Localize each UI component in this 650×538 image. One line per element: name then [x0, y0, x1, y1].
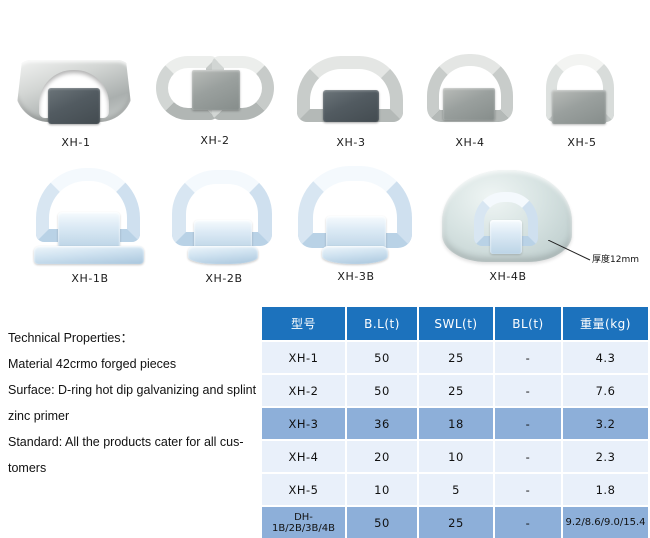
centre-plate-shape: [192, 70, 240, 110]
product-label-xh-5: XH-5: [530, 136, 634, 149]
product-label-xh-3: XH-3: [292, 136, 410, 149]
bolster-sleeve-shape: [326, 216, 386, 250]
cell-swl: 10: [418, 440, 494, 473]
table-row: XH-3 36 18 - 3.2: [262, 407, 648, 440]
product-label-xh-3b: XH-3B: [292, 270, 420, 283]
spec-line-3: zinc primer: [8, 408, 258, 424]
forged-base-shape: [322, 246, 388, 264]
product-card-xh-4b: XH-4B: [438, 170, 578, 283]
cell-model: XH-5: [262, 473, 346, 506]
table-row: XH-1 50 25 - 4.3: [262, 341, 648, 374]
product-card-xh-2b: XH-2B: [162, 168, 286, 285]
product-catalog-page: XH-1 XH-2 XH-3 XH-4 XH-5: [0, 0, 650, 523]
spec-line-0: Technical Properties：: [8, 330, 258, 346]
thickness-annotation: 厚度12mm: [592, 252, 639, 265]
product-image-xh-5: [536, 50, 628, 130]
cell-weight: 1.8: [562, 473, 648, 506]
spec-line-1: Material 42crmo forged pieces: [8, 356, 258, 372]
bolster-sleeve-shape: [490, 220, 522, 254]
spec-line-5: tomers: [8, 460, 258, 476]
grey-clamp-shape: [443, 88, 495, 120]
table-row: XH-4 20 10 - 2.3: [262, 440, 648, 473]
cell-bl: 50: [346, 506, 418, 538]
base-plate-shape: [34, 246, 144, 264]
product-label-xh-2b: XH-2B: [162, 272, 286, 285]
dark-clamp-shape: [48, 88, 100, 124]
cell-bl: 10: [346, 473, 418, 506]
product-label-xh-2: XH-2: [152, 134, 278, 147]
column-header-swl: SWL(t): [418, 307, 494, 341]
cell-bl2: -: [494, 440, 562, 473]
product-image-xh-2: [154, 44, 276, 130]
product-card-xh-1: XH-1: [12, 52, 140, 149]
cell-model: XH-3: [262, 407, 346, 440]
cell-bl: 20: [346, 440, 418, 473]
spec-line-4: Standard: All the products cater for all…: [8, 434, 258, 450]
product-image-xh-3: [295, 50, 407, 130]
grey-clamp-shape: [552, 90, 606, 124]
thickness-leader-line-icon: [548, 240, 592, 262]
column-header-weight: 重量(kg): [562, 307, 648, 341]
bolster-sleeve-shape: [58, 212, 120, 248]
cell-bl2: -: [494, 341, 562, 374]
cell-model: XH-1: [262, 341, 346, 374]
column-header-bl2: BL(t): [494, 307, 562, 341]
table-row: XH-2 50 25 - 7.6: [262, 374, 648, 407]
product-card-xh-3b: XH-3B: [292, 166, 420, 283]
cell-swl: 25: [418, 374, 494, 407]
cell-model: XH-4: [262, 440, 346, 473]
cell-model: XH-2: [262, 374, 346, 407]
cell-weight: 9.2/8.6/9.0/15.4: [562, 506, 648, 538]
specification-table: 型号 B.L(t) SWL(t) BL(t) 重量(kg) XH-1 50 25…: [262, 307, 648, 538]
column-header-model: 型号: [262, 307, 346, 341]
cell-weight: 7.6: [562, 374, 648, 407]
product-label-xh-4: XH-4: [418, 136, 522, 149]
cell-swl: 5: [418, 473, 494, 506]
column-header-bl: B.L(t): [346, 307, 418, 341]
cell-bl: 50: [346, 341, 418, 374]
product-label-xh-1: XH-1: [12, 136, 140, 149]
cell-bl: 36: [346, 407, 418, 440]
product-label-xh-4b: XH-4B: [438, 270, 578, 283]
cell-bl2: -: [494, 473, 562, 506]
table-row: XH-5 10 5 - 1.8: [262, 473, 648, 506]
product-card-xh-3: XH-3: [292, 50, 410, 149]
cell-weight: 3.2: [562, 407, 648, 440]
product-image-xh-3b: [294, 166, 418, 270]
table-header-row: 型号 B.L(t) SWL(t) BL(t) 重量(kg): [262, 307, 648, 341]
spec-line-2: Surface: D-ring hot dip galvanizing and …: [8, 382, 258, 398]
cell-model: DH-1B/2B/3B/4B: [262, 506, 346, 538]
cell-weight: 4.3: [562, 341, 648, 374]
table-row: DH-1B/2B/3B/4B 50 25 - 9.2/8.6/9.0/15.4: [262, 506, 648, 538]
cell-swl: 25: [418, 506, 494, 538]
product-image-xh-1b: [30, 168, 150, 270]
cell-swl: 18: [418, 407, 494, 440]
product-image-xh-1: [15, 52, 137, 130]
product-label-xh-1b: XH-1B: [28, 272, 152, 285]
product-card-xh-1b: XH-1B: [28, 168, 152, 285]
cell-bl2: -: [494, 506, 562, 538]
cell-bl2: -: [494, 407, 562, 440]
dark-clamp-shape: [323, 90, 379, 122]
product-card-xh-4: XH-4: [418, 50, 522, 149]
round-base-shape: [188, 246, 258, 264]
product-image-xh-2b: [164, 168, 284, 270]
cell-weight: 2.3: [562, 440, 648, 473]
product-image-xh-4: [421, 50, 519, 130]
product-card-xh-5: XH-5: [530, 50, 634, 149]
cell-bl: 50: [346, 374, 418, 407]
cell-swl: 25: [418, 341, 494, 374]
technical-properties-block: Technical Properties： Material 42crmo fo…: [8, 330, 258, 486]
cell-bl2: -: [494, 374, 562, 407]
product-card-xh-2: XH-2: [152, 44, 278, 147]
